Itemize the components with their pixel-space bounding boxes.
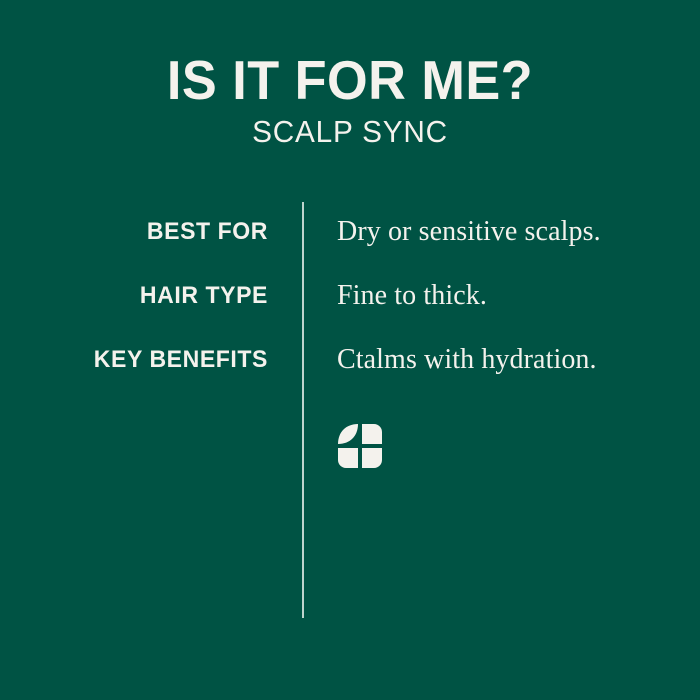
spec-row-key-benefits: KEY BENEFITS Ctalms with hydration. (0, 344, 700, 408)
leaf-quadrant-logo-icon (337, 423, 383, 469)
product-spec-card: IS IT FOR ME? SCALP SYNC BEST FOR Dry or… (0, 0, 700, 700)
product-name-subtitle: SCALP SYNC (14, 116, 686, 148)
spec-label-best-for: BEST FOR (49, 216, 268, 248)
spec-row-best-for: BEST FOR Dry or sensitive scalps. (0, 216, 700, 280)
spec-label-key-benefits: KEY BENEFITS (49, 344, 268, 376)
spec-list: BEST FOR Dry or sensitive scalps. HAIR T… (0, 216, 700, 408)
spec-value-key-benefits: Ctalms with hydration. (337, 342, 597, 378)
card-header: IS IT FOR ME? SCALP SYNC (0, 52, 700, 148)
spec-value-best-for: Dry or sensitive scalps. (337, 214, 601, 250)
page-title: IS IT FOR ME? (18, 52, 683, 108)
spec-value-hair-type: Fine to thick. (337, 278, 487, 314)
spec-row-hair-type: HAIR TYPE Fine to thick. (0, 280, 700, 344)
spec-label-hair-type: HAIR TYPE (49, 280, 268, 312)
